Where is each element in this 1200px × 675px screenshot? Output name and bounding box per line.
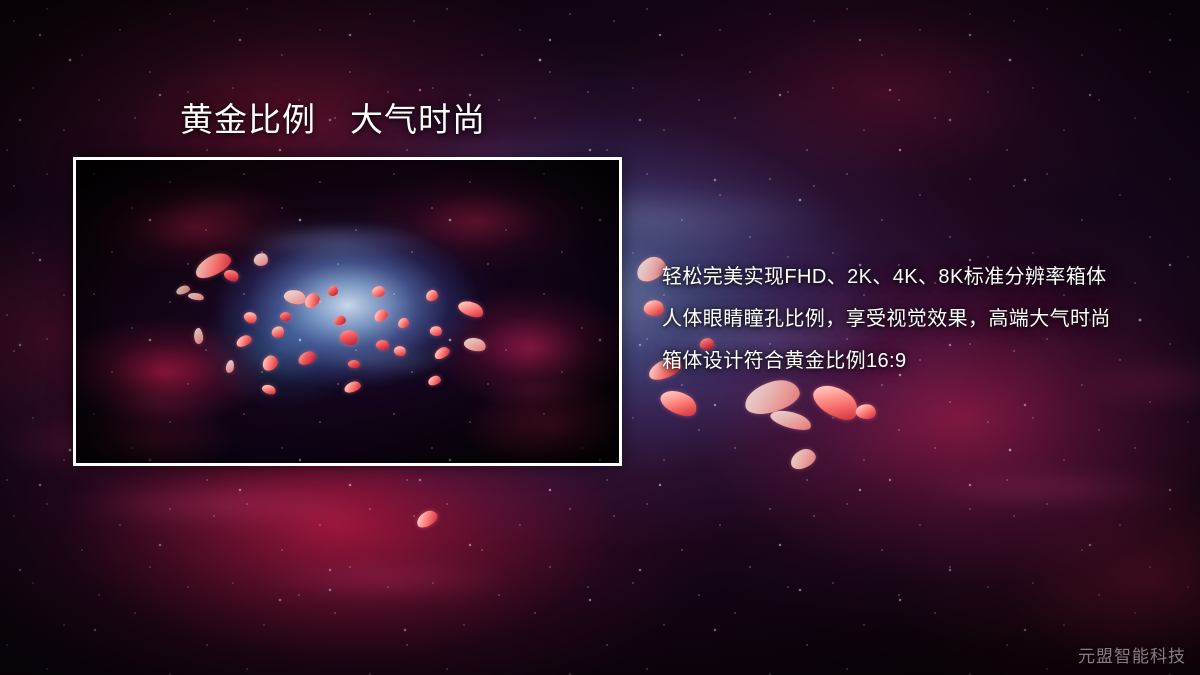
preview-image-frame xyxy=(73,157,622,466)
feature-line-2: 人体眼睛瞳孔比例，享受视觉效果，高端大气时尚 xyxy=(662,298,1172,340)
page-title: 黄金比例 大气时尚 xyxy=(180,100,486,140)
presentation-slide: 黄金比例 大气时尚 轻松完美实现FHD、2K、4K、8K标准分辨率箱体 人体眼睛… xyxy=(0,0,1200,675)
preview-image xyxy=(76,160,619,463)
feature-line-1: 轻松完美实现FHD、2K、4K、8K标准分辨率箱体 xyxy=(662,256,1172,298)
preview-vignette xyxy=(76,160,619,463)
feature-description: 轻松完美实现FHD、2K、4K、8K标准分辨率箱体 人体眼睛瞳孔比例，享受视觉效… xyxy=(662,256,1172,382)
company-watermark: 元盟智能科技 xyxy=(1078,642,1186,667)
feature-line-3: 箱体设计符合黄金比例16:9 xyxy=(662,340,1172,382)
